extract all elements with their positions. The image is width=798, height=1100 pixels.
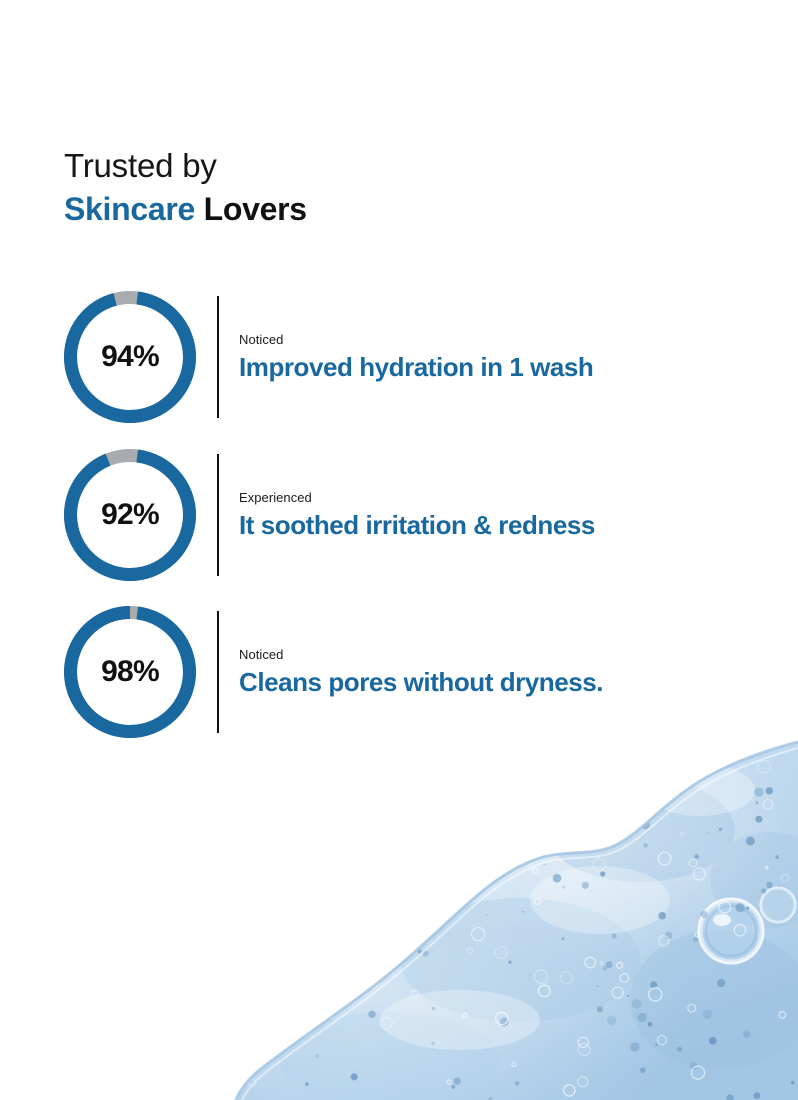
stat-title: Cleans pores without dryness.	[239, 666, 764, 699]
donut-gauge: 98%	[64, 606, 196, 738]
gauge-value-label: 92%	[64, 449, 196, 581]
row-divider	[217, 611, 219, 733]
heading-line-1: Trusted by	[64, 146, 664, 186]
heading-rest-word: Lovers	[195, 191, 307, 227]
donut-gauge: 92%	[64, 449, 196, 581]
infographic-page: Trusted by Skincare Lovers 94% Noticed I…	[0, 0, 798, 1100]
row-divider	[217, 454, 219, 576]
gauge-value-label: 98%	[64, 606, 196, 738]
stat-title: Improved hydration in 1 wash	[239, 351, 764, 384]
heading-line-2: Skincare Lovers	[64, 189, 664, 229]
stat-row: 98% Noticed Cleans pores without dryness…	[64, 603, 764, 741]
stat-eyebrow: Noticed	[239, 646, 764, 663]
page-title: Trusted by Skincare Lovers	[64, 146, 664, 229]
stat-row: 94% Noticed Improved hydration in 1 wash	[64, 288, 764, 426]
stat-eyebrow: Noticed	[239, 331, 764, 348]
stat-eyebrow: Experienced	[239, 489, 764, 506]
stat-row: 92% Experienced It soothed irritation & …	[64, 446, 764, 584]
row-divider	[217, 296, 219, 418]
donut-gauge: 94%	[64, 291, 196, 423]
stat-text-block: Experienced It soothed irritation & redn…	[239, 489, 764, 542]
heading-accent-word: Skincare	[64, 191, 195, 227]
gauge-value-label: 94%	[64, 291, 196, 423]
stat-text-block: Noticed Improved hydration in 1 wash	[239, 331, 764, 384]
stat-title: It soothed irritation & redness	[239, 509, 764, 542]
stat-text-block: Noticed Cleans pores without dryness.	[239, 646, 764, 699]
